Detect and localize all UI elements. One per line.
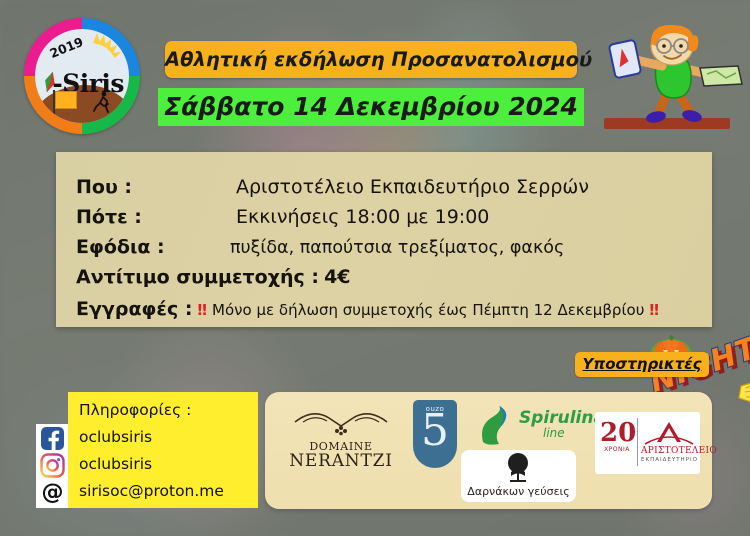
sponsor-aristoteleio-sub: ΕΚΠΑΙΔΕΥΤΗΡΙΟ: [641, 457, 697, 463]
equipment-label: Εφόδια :: [76, 236, 184, 258]
contact-heading: Πληροφορίες :: [79, 401, 191, 419]
event-poster: 2019 -Siris Αθλητική εκδήλωση Προσανατολ…: [0, 0, 750, 536]
detail-row-time: Πότε :Εκκινήσεις 18:00 με 19:00: [76, 206, 489, 228]
event-details-panel: Που :Αριστοτέλειο Εκπαιδευτήριο Σερρών Π…: [56, 152, 712, 327]
detail-row-location: Που :Αριστοτέλειο Εκπαιδευτήριο Σερρών: [76, 176, 589, 198]
anniversary-word: ΧΡΟΝΙΑ: [600, 446, 634, 453]
osiris-logo: 2019 -Siris: [24, 18, 140, 134]
event-date-badge: Σάββατο 14 Δεκεμβρίου 2024: [158, 88, 584, 126]
fee-value: 4€: [324, 266, 350, 288]
registration-label: Εγγραφές :: [76, 298, 192, 320]
equipment-value: πυξίδα, παπούτσια τρεξίματος, φακός: [230, 238, 564, 258]
logo-control-flag-icon: [55, 91, 77, 109]
spirulina-spiral-icon: [477, 404, 515, 446]
detail-row-fee: Αντίτιμο συμμετοχής : 4€: [76, 266, 351, 288]
contact-info-box: Πληροφορίες : oclubsiris oclubsiris siri…: [68, 392, 258, 508]
logo-inner-disc: 2019 -Siris: [35, 29, 129, 123]
contact-email[interactable]: sirisoc@proton.me: [79, 482, 224, 500]
detail-row-equipment: Εφόδια :πυξίδα, παπούτσια τρεξίματος, φα…: [76, 236, 564, 258]
registration-value: Μόνο με δήλωση συμμετοχής έως Πέμπτη 12 …: [212, 301, 644, 319]
detail-row-registration: Εγγραφές : ‼ Μόνο με δήλωση συμμετοχής έ…: [76, 298, 659, 320]
sponsor-logo-spirulina-line: Spirulina line: [477, 404, 602, 446]
time-value: Εκκινήσεις 18:00 με 19:00: [236, 206, 489, 228]
flashlight-icon: [735, 376, 750, 410]
instagram-icon[interactable]: [40, 453, 65, 478]
aristoteleio-alpha-icon: [643, 420, 695, 446]
sponsor-aristoteleio-name: ΑΡΙΣΤΟΤΕΛΕΙΟ: [641, 446, 697, 456]
sponsor-logo-ouzo-5: ouzo 5: [413, 400, 457, 468]
location-label: Που :: [76, 176, 184, 198]
sponsor-ouzo-number: 5: [413, 409, 457, 453]
sponsor-nerantzi-line2: NERANTZI: [285, 451, 397, 471]
darnakon-emblem-icon: [461, 450, 576, 484]
fee-label: Αντίτιμο συμμετοχής :: [76, 266, 319, 288]
facebook-icon[interactable]: [40, 426, 65, 451]
sponsor-logo-darnakon-gefseis: Δαρνάκων γεύσεις: [461, 450, 576, 502]
logo-runner-icon: [93, 91, 111, 113]
supporters-label: Υποστηρικτές: [575, 352, 709, 377]
registration-bang-right: ‼: [649, 301, 658, 319]
aristoteleio-anniversary: 20 ΧΡΟΝΙΑ: [600, 420, 634, 453]
orienteer-cartoon-icon: [604, 22, 744, 134]
aristoteleio-divider: [637, 418, 638, 466]
registration-bang-left: ‼: [198, 301, 207, 319]
social-icons-strip: @: [36, 424, 69, 508]
event-title-badge: Αθλητική εκδήλωση Προσανατολισμού: [165, 41, 577, 78]
anniversary-number: 20: [600, 420, 634, 446]
contact-facebook-handle[interactable]: oclubsiris: [79, 428, 152, 446]
email-at-icon[interactable]: @: [40, 480, 65, 505]
vine-ornament-icon: [285, 406, 397, 436]
sponsor-spirulina-sub: line: [543, 426, 565, 440]
sponsor-spirulina-name: Spirulina: [519, 408, 605, 428]
time-label: Πότε :: [76, 206, 184, 228]
sponsor-logo-aristoteleio: 20 ΧΡΟΝΙΑ ΑΡΙΣΤΟΤΕΛΕΙΟ ΕΚΠΑΙΔΕΥΤΗΡΙΟ: [595, 412, 700, 474]
contact-instagram-handle[interactable]: oclubsiris: [79, 455, 152, 473]
sponsors-panel: DOMAINE NERANTZI ouzo 5 Spirulina line Δ…: [265, 392, 712, 509]
sponsor-darnakon-name: Δαρνάκων γεύσεις: [461, 485, 576, 498]
location-value: Αριστοτέλειο Εκπαιδευτήριο Σερρών: [236, 176, 589, 198]
sponsor-logo-domaine-nerantzi: DOMAINE NERANTZI: [285, 406, 397, 468]
